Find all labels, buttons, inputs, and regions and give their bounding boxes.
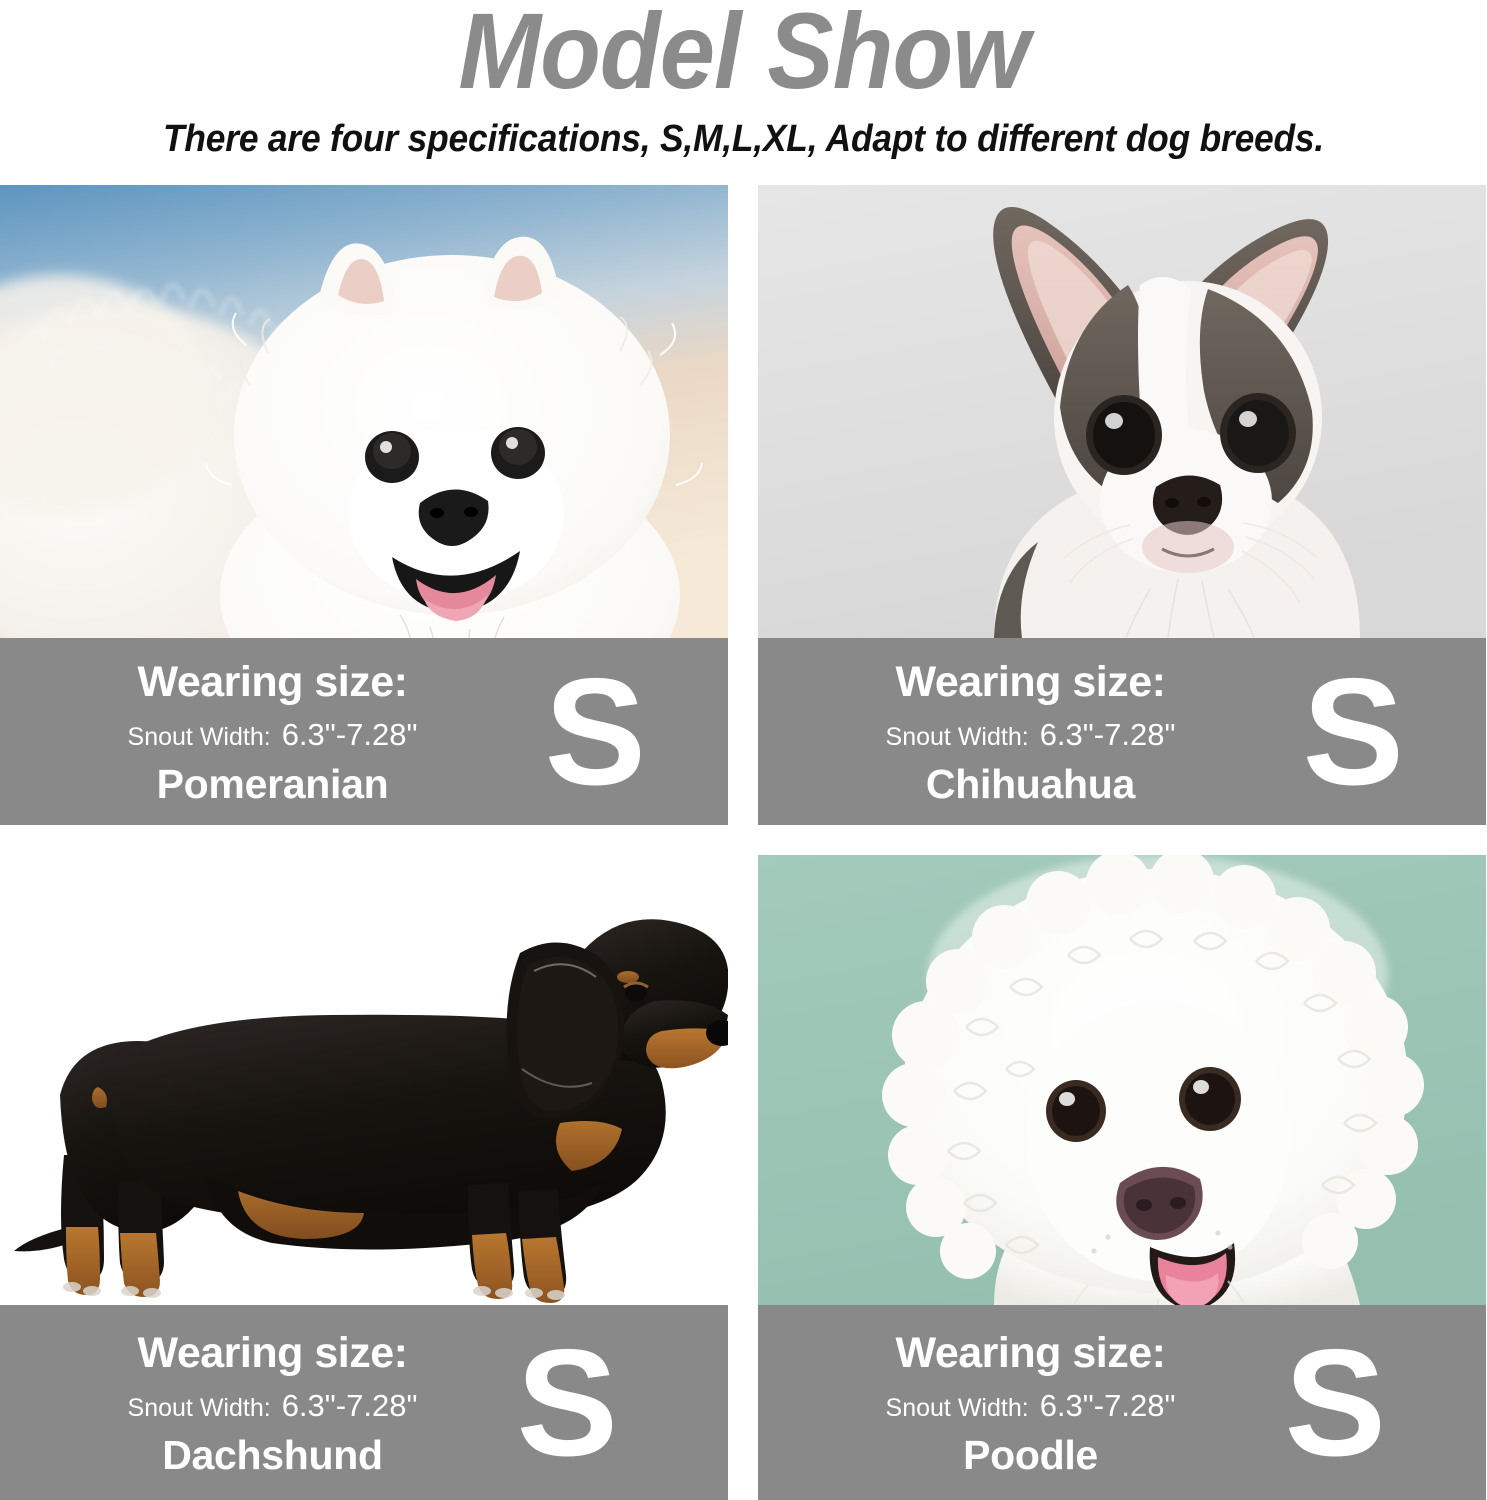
model-show-infographic: Model Show There are four specifications…	[0, 0, 1487, 1500]
snout-width-label: Snout Width:	[128, 723, 271, 751]
pomeranian-illustration	[0, 185, 728, 638]
breed-card-dachshund: Wearing size: Snout Width:6.3"-7.28" Dac…	[0, 855, 728, 1500]
snout-width-row: Snout Width:6.3"-7.28"	[886, 719, 1176, 750]
snout-width-label: Snout Width:	[886, 1394, 1029, 1422]
breed-name: Chihuahua	[926, 764, 1135, 805]
breed-name: Pomeranian	[157, 764, 389, 805]
photo-pomeranian	[0, 185, 728, 638]
size-letter-badge: S	[545, 656, 646, 808]
poodle-illustration	[758, 855, 1486, 1305]
snout-width-row: Snout Width:6.3"-7.28"	[886, 1390, 1176, 1421]
snout-width-row: Snout Width:6.3"-7.28"	[128, 1390, 418, 1421]
breed-card-pomeranian: Wearing size: Snout Width:6.3"-7.28" Pom…	[0, 185, 728, 825]
breed-name: Poodle	[963, 1435, 1098, 1476]
snout-width-label: Snout Width:	[128, 1394, 271, 1422]
snout-width-value: 6.3"-7.28"	[1040, 1388, 1176, 1423]
snout-width-label: Snout Width:	[886, 723, 1029, 751]
photo-chihuahua	[758, 185, 1486, 638]
breed-card-chihuahua: Wearing size: Snout Width:6.3"-7.28" Chi…	[758, 185, 1486, 825]
size-letter-badge: S	[1285, 1327, 1386, 1479]
label-bar-poodle: Wearing size: Snout Width:6.3"-7.28" Poo…	[758, 1305, 1486, 1500]
page-subtitle: There are four specifications, S,M,L,XL,…	[52, 118, 1435, 161]
wearing-size-label: Wearing size:	[896, 1332, 1166, 1375]
dachshund-illustration	[0, 855, 728, 1305]
chihuahua-illustration	[758, 185, 1486, 638]
page-title: Model Show	[59, 0, 1427, 108]
photo-dachshund	[0, 855, 728, 1305]
breed-card-grid: Wearing size: Snout Width:6.3"-7.28" Pom…	[0, 185, 1487, 1500]
wearing-size-label: Wearing size:	[138, 661, 408, 704]
label-text-group: Wearing size: Snout Width:6.3"-7.28" Dac…	[0, 1305, 545, 1500]
label-text-group: Wearing size: Snout Width:6.3"-7.28" Chi…	[758, 638, 1303, 825]
snout-width-row: Snout Width:6.3"-7.28"	[128, 719, 418, 750]
snout-width-value: 6.3"-7.28"	[282, 717, 418, 752]
breed-name: Dachshund	[162, 1435, 383, 1476]
label-text-group: Wearing size: Snout Width:6.3"-7.28" Poo…	[758, 1305, 1303, 1500]
breed-card-poodle: Wearing size: Snout Width:6.3"-7.28" Poo…	[758, 855, 1486, 1500]
snout-width-value: 6.3"-7.28"	[282, 1388, 418, 1423]
label-bar-chihuahua: Wearing size: Snout Width:6.3"-7.28" Chi…	[758, 638, 1486, 825]
wearing-size-label: Wearing size:	[896, 661, 1166, 704]
snout-width-value: 6.3"-7.28"	[1040, 717, 1176, 752]
size-letter-badge: S	[1303, 656, 1404, 808]
photo-poodle	[758, 855, 1486, 1305]
label-text-group: Wearing size: Snout Width:6.3"-7.28" Pom…	[0, 638, 545, 825]
size-letter-badge: S	[517, 1327, 618, 1479]
label-bar-dachshund: Wearing size: Snout Width:6.3"-7.28" Dac…	[0, 1305, 728, 1500]
label-bar-pomeranian: Wearing size: Snout Width:6.3"-7.28" Pom…	[0, 638, 728, 825]
wearing-size-label: Wearing size:	[138, 1332, 408, 1375]
